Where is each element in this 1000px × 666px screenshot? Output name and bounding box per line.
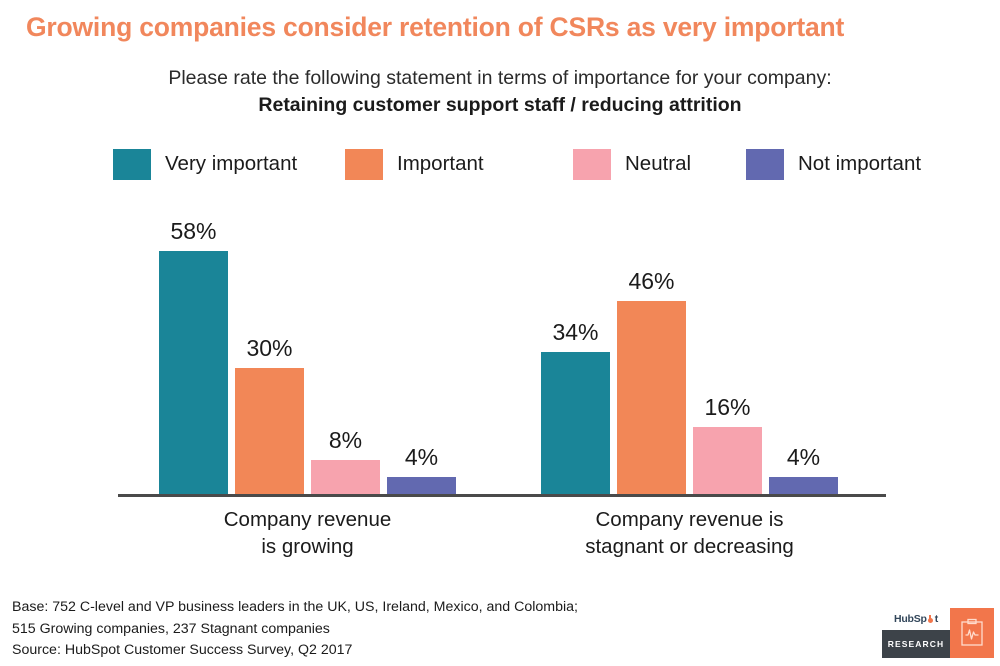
- hubspot-sprocket-icon: [927, 617, 934, 624]
- bar-very-important[interactable]: [159, 251, 228, 494]
- badge-text-column: HubSpt RESEARCH: [882, 608, 950, 658]
- hubspot-logo: HubSpt: [882, 608, 950, 630]
- hubspot-wordmark: HubSp: [894, 613, 927, 625]
- bar-value-label: 4%: [405, 444, 438, 471]
- legend-item-neutral[interactable]: Neutral: [573, 146, 691, 182]
- subtitle-question: Please rate the following statement in t…: [0, 66, 1000, 91]
- legend-item-label: Very important: [165, 152, 297, 176]
- legend-swatch-icon: [573, 149, 611, 180]
- bar-value-label: 34%: [552, 319, 598, 346]
- legend-item-important[interactable]: Important: [345, 146, 484, 182]
- legend-swatch-icon: [345, 149, 383, 180]
- x-axis-category-label: Company revenue is growing: [159, 506, 456, 561]
- bar-important[interactable]: [235, 368, 304, 494]
- footer-notes: Base: 752 C-level and VP business leader…: [12, 597, 578, 662]
- legend-item-label: Neutral: [625, 152, 691, 176]
- x-axis-category-label: Company revenue is stagnant or decreasin…: [541, 506, 838, 561]
- legend-item-label: Important: [397, 152, 484, 176]
- footer-base-line-2: 515 Growing companies, 237 Stagnant comp…: [12, 619, 578, 641]
- bar-value-label: 4%: [787, 444, 820, 471]
- chart-legend: Very importantImportantNeutralNot import…: [113, 146, 913, 182]
- badge-research-label: RESEARCH: [882, 630, 950, 658]
- clipboard-pulse-icon: [950, 608, 994, 658]
- legend-swatch-icon: [113, 149, 151, 180]
- bar-important[interactable]: [617, 301, 686, 494]
- hubspot-research-badge: HubSpt RESEARCH: [882, 608, 994, 658]
- page-title: Growing companies consider retention of …: [26, 12, 976, 42]
- bar-not-important[interactable]: [387, 477, 456, 494]
- bar-neutral[interactable]: [693, 427, 762, 494]
- footer-base-line-1: Base: 752 C-level and VP business leader…: [12, 597, 578, 619]
- x-axis-line: [118, 494, 886, 497]
- bar-value-label: 58%: [170, 218, 216, 245]
- chart-subtitle: Please rate the following statement in t…: [0, 66, 1000, 118]
- bar-very-important[interactable]: [541, 352, 610, 494]
- bar-value-label: 16%: [704, 394, 750, 421]
- footer-source-line: Source: HubSpot Customer Success Survey,…: [12, 640, 578, 662]
- legend-item-very-important[interactable]: Very important: [113, 146, 297, 182]
- bar-not-important[interactable]: [769, 477, 838, 494]
- bar-value-label: 8%: [329, 427, 362, 454]
- legend-item-label: Not important: [798, 152, 921, 176]
- bar-value-label: 46%: [628, 268, 674, 295]
- bar-neutral[interactable]: [311, 460, 380, 494]
- subtitle-statement: Retaining customer support staff / reduc…: [0, 93, 1000, 118]
- legend-swatch-icon: [746, 149, 784, 180]
- bar-value-label: 30%: [246, 335, 292, 362]
- hubspot-wordmark-tail: t: [935, 613, 938, 625]
- legend-item-not-important[interactable]: Not important: [746, 146, 921, 182]
